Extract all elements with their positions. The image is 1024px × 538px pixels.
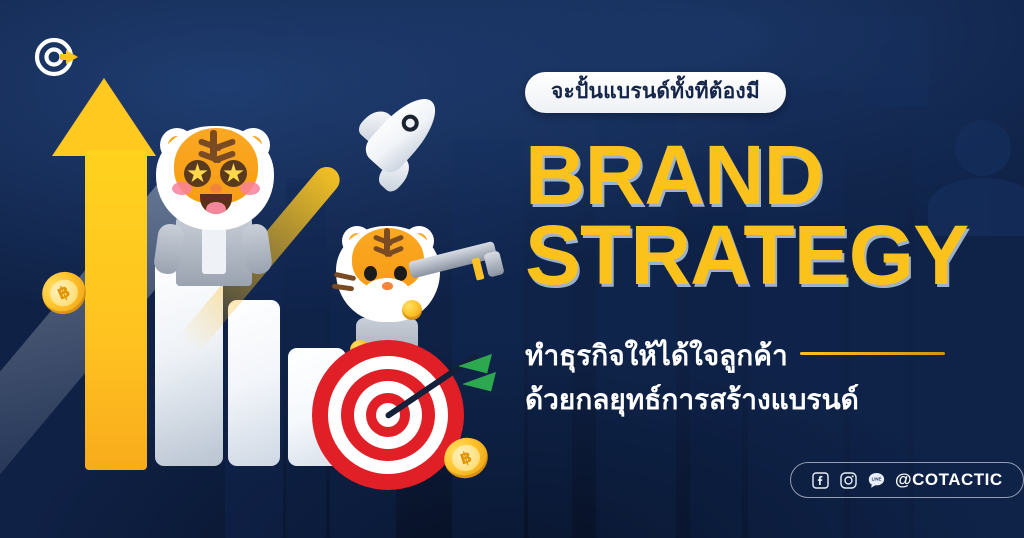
tiger-mascot-suit <box>148 112 284 282</box>
cotactic-logo[interactable] <box>33 33 79 79</box>
line-icon[interactable]: LINE <box>867 471 886 490</box>
badge-text: จะปั้นแบรนด์ทั้งทีต้องมี <box>551 80 760 103</box>
text-column: จะปั้นแบรนด์ทั้งทีต้องมี BRAND STRATEGY … <box>505 0 1024 538</box>
instagram-icon[interactable] <box>839 471 858 490</box>
headline-strategy: STRATEGY <box>525 216 968 296</box>
chart-bar-2 <box>155 258 223 466</box>
social-handle-text: @COTACTIC <box>895 470 1003 490</box>
target-arrow-mark <box>33 33 81 81</box>
chart-bar-3 <box>228 300 280 466</box>
headline-badge: จะปั้นแบรนด์ทั้งทีต้องมี <box>525 72 786 113</box>
headline-brand: BRAND <box>525 136 823 216</box>
facebook-icon[interactable] <box>811 471 830 490</box>
subtitle-line-1: ทำธุรกิจให้ได้ใจลูกค้า <box>525 334 788 378</box>
brand-strategy-banner: ฿ ฿ จะปั้นแบรนด์ทั้งทีต้องมี BRAND STRAT… <box>0 0 1024 538</box>
subtitle-line-2: ด้วยกลยุทธ์การสร้างแบรนด์ <box>525 378 859 422</box>
subtitle-divider-rule <box>800 352 945 355</box>
svg-text:LINE: LINE <box>872 476 882 481</box>
social-handle-bar[interactable]: LINE @COTACTIC <box>790 462 1024 498</box>
